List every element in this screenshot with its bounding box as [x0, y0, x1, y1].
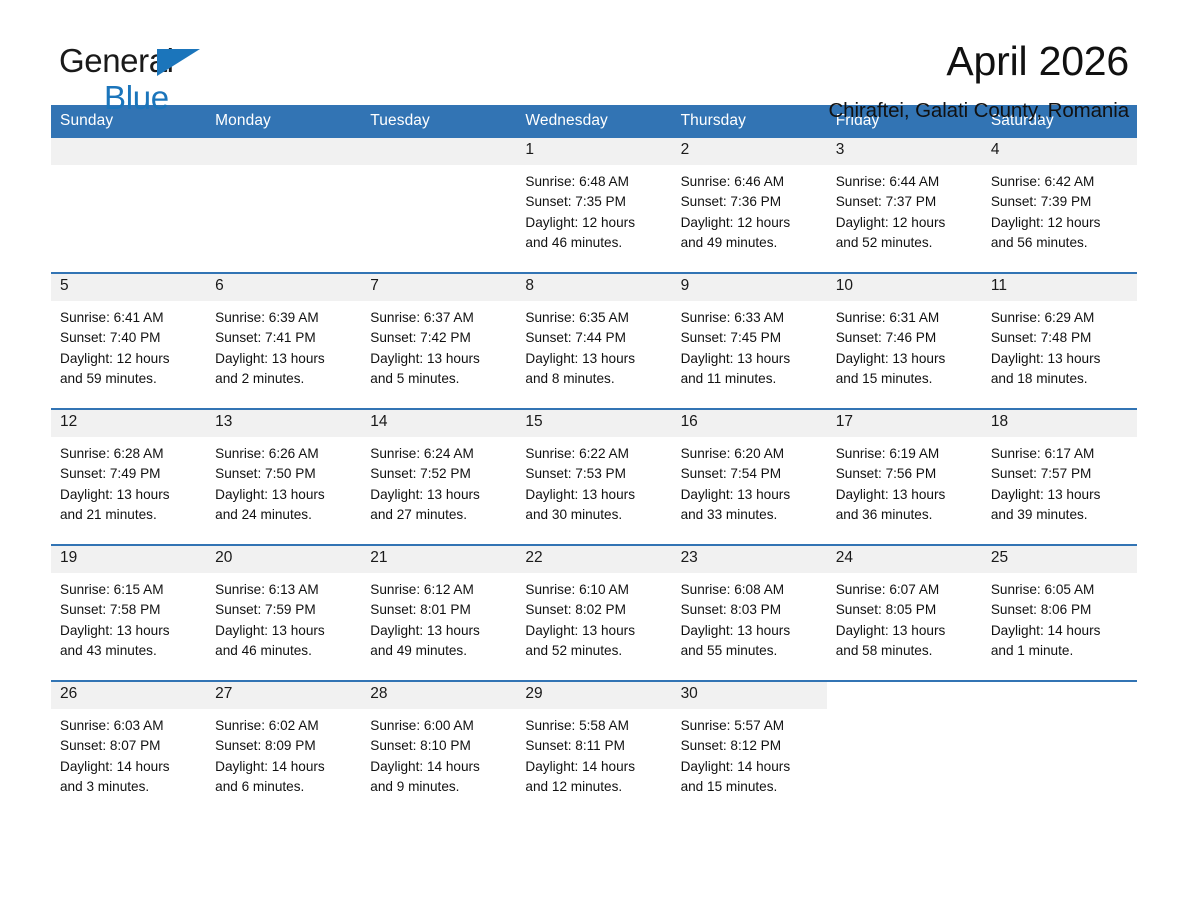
sunrise-text: Sunrise: 6:42 AM: [991, 172, 1131, 192]
daylight-text-line1: Daylight: 13 hours: [215, 349, 355, 369]
day-number: [51, 138, 206, 165]
day-cell-inner: 17Sunrise: 6:19 AMSunset: 7:56 PMDayligh…: [827, 410, 982, 544]
sunrise-text: Sunrise: 6:35 AM: [525, 308, 665, 328]
daylight-text-line2: and 33 minutes.: [681, 505, 821, 525]
day-number: 23: [672, 546, 827, 573]
day-details: Sunrise: 6:42 AMSunset: 7:39 PMDaylight:…: [982, 165, 1137, 253]
sunrise-text: Sunrise: 6:20 AM: [681, 444, 821, 464]
day-cell-inner: 20Sunrise: 6:13 AMSunset: 7:59 PMDayligh…: [206, 546, 361, 680]
daylight-text-line2: and 46 minutes.: [215, 641, 355, 661]
day-details: Sunrise: 6:41 AMSunset: 7:40 PMDaylight:…: [51, 301, 206, 389]
day-cell-inner: 6Sunrise: 6:39 AMSunset: 7:41 PMDaylight…: [206, 274, 361, 408]
day-details: Sunrise: 6:44 AMSunset: 7:37 PMDaylight:…: [827, 165, 982, 253]
daylight-text-line1: Daylight: 14 hours: [60, 757, 200, 777]
day-number: 11: [982, 274, 1137, 301]
calendar-day-cell[interactable]: 5Sunrise: 6:41 AMSunset: 7:40 PMDaylight…: [51, 273, 206, 409]
daylight-text-line1: Daylight: 12 hours: [60, 349, 200, 369]
calendar-day-cell[interactable]: 6Sunrise: 6:39 AMSunset: 7:41 PMDaylight…: [206, 273, 361, 409]
day-number: 14: [361, 410, 516, 437]
day-details: Sunrise: 6:13 AMSunset: 7:59 PMDaylight:…: [206, 573, 361, 661]
calendar-day-cell[interactable]: 8Sunrise: 6:35 AMSunset: 7:44 PMDaylight…: [516, 273, 671, 409]
sunrise-text: Sunrise: 6:37 AM: [370, 308, 510, 328]
day-cell-inner: 22Sunrise: 6:10 AMSunset: 8:02 PMDayligh…: [516, 546, 671, 680]
day-number: 2: [672, 138, 827, 165]
calendar-day-cell[interactable]: 12Sunrise: 6:28 AMSunset: 7:49 PMDayligh…: [51, 409, 206, 545]
sunrise-text: Sunrise: 6:31 AM: [836, 308, 976, 328]
day-number: 9: [672, 274, 827, 301]
daylight-text-line1: Daylight: 13 hours: [836, 485, 976, 505]
day-number: 12: [51, 410, 206, 437]
calendar-cell-empty: [51, 138, 206, 273]
daylight-text-line2: and 56 minutes.: [991, 233, 1131, 253]
day-number: 17: [827, 410, 982, 437]
daylight-text-line1: Daylight: 13 hours: [681, 349, 821, 369]
day-cell-inner: 16Sunrise: 6:20 AMSunset: 7:54 PMDayligh…: [672, 410, 827, 544]
daylight-text-line1: Daylight: 13 hours: [681, 485, 821, 505]
day-cell-inner: 18Sunrise: 6:17 AMSunset: 7:57 PMDayligh…: [982, 410, 1137, 544]
day-details: Sunrise: 6:37 AMSunset: 7:42 PMDaylight:…: [361, 301, 516, 389]
calendar-week-row: 19Sunrise: 6:15 AMSunset: 7:58 PMDayligh…: [51, 545, 1137, 681]
sunrise-text: Sunrise: 6:12 AM: [370, 580, 510, 600]
calendar-page: General Blue April 2026 Chiraftei, Galat…: [0, 0, 1188, 918]
sunrise-text: Sunrise: 6:03 AM: [60, 716, 200, 736]
weekday-header-wednesday: Wednesday: [516, 105, 671, 138]
sunset-text: Sunset: 7:37 PM: [836, 192, 976, 212]
day-details: Sunrise: 6:35 AMSunset: 7:44 PMDaylight:…: [516, 301, 671, 389]
sunset-text: Sunset: 7:45 PM: [681, 328, 821, 348]
day-cell-inner: 26Sunrise: 6:03 AMSunset: 8:07 PMDayligh…: [51, 682, 206, 816]
calendar-week-row: 26Sunrise: 6:03 AMSunset: 8:07 PMDayligh…: [51, 681, 1137, 816]
day-cell-inner: 1Sunrise: 6:48 AMSunset: 7:35 PMDaylight…: [516, 138, 671, 272]
day-cell-inner: 2Sunrise: 6:46 AMSunset: 7:36 PMDaylight…: [672, 138, 827, 272]
daylight-text-line1: Daylight: 14 hours: [215, 757, 355, 777]
day-number: [361, 138, 516, 165]
sunset-text: Sunset: 8:05 PM: [836, 600, 976, 620]
day-details: Sunrise: 6:03 AMSunset: 8:07 PMDaylight:…: [51, 709, 206, 797]
day-number: [206, 138, 361, 165]
daylight-text-line2: and 5 minutes.: [370, 369, 510, 389]
day-details: Sunrise: 5:57 AMSunset: 8:12 PMDaylight:…: [672, 709, 827, 797]
day-details: Sunrise: 6:15 AMSunset: 7:58 PMDaylight:…: [51, 573, 206, 661]
location-subtitle: Chiraftei, Galati County, Romania: [828, 99, 1129, 123]
calendar-day-cell[interactable]: 9Sunrise: 6:33 AMSunset: 7:45 PMDaylight…: [672, 273, 827, 409]
day-number: 29: [516, 682, 671, 709]
calendar-day-cell[interactable]: 4Sunrise: 6:42 AMSunset: 7:39 PMDaylight…: [982, 138, 1137, 273]
daylight-text-line2: and 36 minutes.: [836, 505, 976, 525]
daylight-text-line1: Daylight: 13 hours: [370, 621, 510, 641]
day-number: 6: [206, 274, 361, 301]
daylight-text-line2: and 55 minutes.: [681, 641, 821, 661]
sunrise-text: Sunrise: 5:57 AM: [681, 716, 821, 736]
sunset-text: Sunset: 7:49 PM: [60, 464, 200, 484]
day-cell-inner: 15Sunrise: 6:22 AMSunset: 7:53 PMDayligh…: [516, 410, 671, 544]
sunset-text: Sunset: 8:09 PM: [215, 736, 355, 756]
sunset-text: Sunset: 7:56 PM: [836, 464, 976, 484]
sunrise-text: Sunrise: 5:58 AM: [525, 716, 665, 736]
day-cell-inner: 14Sunrise: 6:24 AMSunset: 7:52 PMDayligh…: [361, 410, 516, 544]
sunrise-text: Sunrise: 6:39 AM: [215, 308, 355, 328]
day-details: Sunrise: 6:02 AMSunset: 8:09 PMDaylight:…: [206, 709, 361, 797]
calendar-day-cell[interactable]: 29Sunrise: 5:58 AMSunset: 8:11 PMDayligh…: [516, 681, 671, 816]
day-number: 15: [516, 410, 671, 437]
day-details: Sunrise: 6:48 AMSunset: 7:35 PMDaylight:…: [516, 165, 671, 253]
day-number: 3: [827, 138, 982, 165]
daylight-text-line2: and 21 minutes.: [60, 505, 200, 525]
daylight-text-line2: and 1 minute.: [991, 641, 1131, 661]
logo-text-blue: Blue: [59, 81, 359, 114]
day-cell-inner: 10Sunrise: 6:31 AMSunset: 7:46 PMDayligh…: [827, 274, 982, 408]
sunrise-text: Sunrise: 6:28 AM: [60, 444, 200, 464]
day-number: 20: [206, 546, 361, 573]
calendar-week-row: 12Sunrise: 6:28 AMSunset: 7:49 PMDayligh…: [51, 409, 1137, 545]
day-cell-inner: 9Sunrise: 6:33 AMSunset: 7:45 PMDaylight…: [672, 274, 827, 408]
day-cell-inner: 3Sunrise: 6:44 AMSunset: 7:37 PMDaylight…: [827, 138, 982, 272]
sunrise-text: Sunrise: 6:33 AM: [681, 308, 821, 328]
sunset-text: Sunset: 7:57 PM: [991, 464, 1131, 484]
day-cell-inner: 7Sunrise: 6:37 AMSunset: 7:42 PMDaylight…: [361, 274, 516, 408]
sunrise-text: Sunrise: 6:26 AM: [215, 444, 355, 464]
day-cell-inner: [827, 682, 982, 816]
day-number: 7: [361, 274, 516, 301]
page-title: April 2026: [828, 40, 1129, 83]
page-header: General Blue April 2026 Chiraftei, Galat…: [51, 0, 1137, 105]
sunrise-text: Sunrise: 6:29 AM: [991, 308, 1131, 328]
day-cell-inner: 24Sunrise: 6:07 AMSunset: 8:05 PMDayligh…: [827, 546, 982, 680]
sunset-text: Sunset: 7:35 PM: [525, 192, 665, 212]
sunset-text: Sunset: 7:41 PM: [215, 328, 355, 348]
calendar-day-cell[interactable]: 18Sunrise: 6:17 AMSunset: 7:57 PMDayligh…: [982, 409, 1137, 545]
sunrise-text: Sunrise: 6:41 AM: [60, 308, 200, 328]
daylight-text-line2: and 12 minutes.: [525, 777, 665, 797]
weekday-header-thursday: Thursday: [672, 105, 827, 138]
sunset-text: Sunset: 8:03 PM: [681, 600, 821, 620]
sunset-text: Sunset: 7:46 PM: [836, 328, 976, 348]
sunrise-text: Sunrise: 6:00 AM: [370, 716, 510, 736]
day-cell-inner: 27Sunrise: 6:02 AMSunset: 8:09 PMDayligh…: [206, 682, 361, 816]
day-cell-inner: 29Sunrise: 5:58 AMSunset: 8:11 PMDayligh…: [516, 682, 671, 816]
title-block: April 2026 Chiraftei, Galati County, Rom…: [828, 40, 1129, 123]
sunset-text: Sunset: 7:53 PM: [525, 464, 665, 484]
day-details: Sunrise: 6:26 AMSunset: 7:50 PMDaylight:…: [206, 437, 361, 525]
calendar-day-cell[interactable]: 15Sunrise: 6:22 AMSunset: 7:53 PMDayligh…: [516, 409, 671, 545]
calendar-day-cell[interactable]: 7Sunrise: 6:37 AMSunset: 7:42 PMDaylight…: [361, 273, 516, 409]
calendar-day-cell[interactable]: 16Sunrise: 6:20 AMSunset: 7:54 PMDayligh…: [672, 409, 827, 545]
day-details: Sunrise: 6:08 AMSunset: 8:03 PMDaylight:…: [672, 573, 827, 661]
sunset-text: Sunset: 7:50 PM: [215, 464, 355, 484]
day-cell-inner: 11Sunrise: 6:29 AMSunset: 7:48 PMDayligh…: [982, 274, 1137, 408]
day-number: 21: [361, 546, 516, 573]
day-number: 8: [516, 274, 671, 301]
sunrise-text: Sunrise: 6:02 AM: [215, 716, 355, 736]
day-cell-inner: 4Sunrise: 6:42 AMSunset: 7:39 PMDaylight…: [982, 138, 1137, 272]
daylight-text-line1: Daylight: 12 hours: [525, 213, 665, 233]
daylight-text-line1: Daylight: 13 hours: [215, 485, 355, 505]
daylight-text-line1: Daylight: 12 hours: [681, 213, 821, 233]
sunset-text: Sunset: 8:10 PM: [370, 736, 510, 756]
daylight-text-line2: and 52 minutes.: [525, 641, 665, 661]
calendar-day-cell[interactable]: 2Sunrise: 6:46 AMSunset: 7:36 PMDaylight…: [672, 138, 827, 273]
daylight-text-line2: and 27 minutes.: [370, 505, 510, 525]
calendar-day-cell[interactable]: 10Sunrise: 6:31 AMSunset: 7:46 PMDayligh…: [827, 273, 982, 409]
day-cell-inner: 12Sunrise: 6:28 AMSunset: 7:49 PMDayligh…: [51, 410, 206, 544]
sunrise-text: Sunrise: 6:22 AM: [525, 444, 665, 464]
calendar-day-cell[interactable]: 3Sunrise: 6:44 AMSunset: 7:37 PMDaylight…: [827, 138, 982, 273]
general-blue-logo[interactable]: General Blue: [59, 44, 359, 116]
daylight-text-line2: and 58 minutes.: [836, 641, 976, 661]
daylight-text-line2: and 59 minutes.: [60, 369, 200, 389]
day-number: 28: [361, 682, 516, 709]
day-cell-inner: 8Sunrise: 6:35 AMSunset: 7:44 PMDaylight…: [516, 274, 671, 408]
daylight-text-line1: Daylight: 13 hours: [681, 621, 821, 641]
daylight-text-line1: Daylight: 13 hours: [60, 621, 200, 641]
daylight-text-line1: Daylight: 13 hours: [991, 485, 1131, 505]
day-number: 25: [982, 546, 1137, 573]
sunrise-text: Sunrise: 6:48 AM: [525, 172, 665, 192]
calendar-day-cell[interactable]: 21Sunrise: 6:12 AMSunset: 8:01 PMDayligh…: [361, 545, 516, 681]
sunset-text: Sunset: 8:07 PM: [60, 736, 200, 756]
sunset-text: Sunset: 7:42 PM: [370, 328, 510, 348]
day-details: Sunrise: 6:33 AMSunset: 7:45 PMDaylight:…: [672, 301, 827, 389]
weekday-header-tuesday: Tuesday: [361, 105, 516, 138]
sunset-text: Sunset: 7:36 PM: [681, 192, 821, 212]
sunrise-text: Sunrise: 6:15 AM: [60, 580, 200, 600]
calendar-day-cell[interactable]: 14Sunrise: 6:24 AMSunset: 7:52 PMDayligh…: [361, 409, 516, 545]
calendar-day-cell[interactable]: 25Sunrise: 6:05 AMSunset: 8:06 PMDayligh…: [982, 545, 1137, 681]
day-number: 18: [982, 410, 1137, 437]
daylight-text-line1: Daylight: 13 hours: [991, 349, 1131, 369]
calendar-day-cell[interactable]: 28Sunrise: 6:00 AMSunset: 8:10 PMDayligh…: [361, 681, 516, 816]
sunset-text: Sunset: 8:12 PM: [681, 736, 821, 756]
daylight-text-line1: Daylight: 13 hours: [370, 485, 510, 505]
day-cell-inner: 19Sunrise: 6:15 AMSunset: 7:58 PMDayligh…: [51, 546, 206, 680]
day-cell-inner: 5Sunrise: 6:41 AMSunset: 7:40 PMDaylight…: [51, 274, 206, 408]
daylight-text-line2: and 2 minutes.: [215, 369, 355, 389]
daylight-text-line1: Daylight: 12 hours: [991, 213, 1131, 233]
logo-top-row: General: [59, 44, 359, 80]
sunrise-text: Sunrise: 6:46 AM: [681, 172, 821, 192]
sunset-text: Sunset: 7:40 PM: [60, 328, 200, 348]
daylight-text-line2: and 6 minutes.: [215, 777, 355, 797]
daylight-text-line2: and 30 minutes.: [525, 505, 665, 525]
calendar-cell-empty: [361, 138, 516, 273]
day-number: 10: [827, 274, 982, 301]
calendar-day-cell[interactable]: 30Sunrise: 5:57 AMSunset: 8:12 PMDayligh…: [672, 681, 827, 816]
daylight-text-line1: Daylight: 14 hours: [525, 757, 665, 777]
day-cell-inner: [361, 138, 516, 272]
day-cell-inner: 23Sunrise: 6:08 AMSunset: 8:03 PMDayligh…: [672, 546, 827, 680]
daylight-text-line1: Daylight: 13 hours: [836, 621, 976, 641]
day-details: Sunrise: 6:22 AMSunset: 7:53 PMDaylight:…: [516, 437, 671, 525]
daylight-text-line2: and 46 minutes.: [525, 233, 665, 253]
day-details: Sunrise: 6:20 AMSunset: 7:54 PMDaylight:…: [672, 437, 827, 525]
day-details: Sunrise: 6:07 AMSunset: 8:05 PMDaylight:…: [827, 573, 982, 661]
sunset-text: Sunset: 7:52 PM: [370, 464, 510, 484]
sunrise-text: Sunrise: 6:05 AM: [991, 580, 1131, 600]
day-cell-inner: 21Sunrise: 6:12 AMSunset: 8:01 PMDayligh…: [361, 546, 516, 680]
day-number: 16: [672, 410, 827, 437]
daylight-text-line1: Daylight: 13 hours: [215, 621, 355, 641]
daylight-text-line2: and 43 minutes.: [60, 641, 200, 661]
sunset-text: Sunset: 7:59 PM: [215, 600, 355, 620]
day-details: Sunrise: 6:29 AMSunset: 7:48 PMDaylight:…: [982, 301, 1137, 389]
sunset-text: Sunset: 8:11 PM: [525, 736, 665, 756]
daylight-text-line2: and 11 minutes.: [681, 369, 821, 389]
day-details: Sunrise: 6:10 AMSunset: 8:02 PMDaylight:…: [516, 573, 671, 661]
day-cell-inner: 25Sunrise: 6:05 AMSunset: 8:06 PMDayligh…: [982, 546, 1137, 680]
calendar-day-cell[interactable]: 13Sunrise: 6:26 AMSunset: 7:50 PMDayligh…: [206, 409, 361, 545]
daylight-text-line2: and 9 minutes.: [370, 777, 510, 797]
day-details: Sunrise: 6:28 AMSunset: 7:49 PMDaylight:…: [51, 437, 206, 525]
day-details: Sunrise: 6:00 AMSunset: 8:10 PMDaylight:…: [361, 709, 516, 797]
daylight-text-line2: and 15 minutes.: [681, 777, 821, 797]
day-details: Sunrise: 6:17 AMSunset: 7:57 PMDaylight:…: [982, 437, 1137, 525]
calendar-week-row: 1Sunrise: 6:48 AMSunset: 7:35 PMDaylight…: [51, 138, 1137, 273]
sunset-text: Sunset: 7:54 PM: [681, 464, 821, 484]
daylight-text-line2: and 8 minutes.: [525, 369, 665, 389]
sunset-text: Sunset: 7:48 PM: [991, 328, 1131, 348]
calendar-day-cell[interactable]: 1Sunrise: 6:48 AMSunset: 7:35 PMDaylight…: [516, 138, 671, 273]
sunrise-text: Sunrise: 6:17 AM: [991, 444, 1131, 464]
calendar-day-cell[interactable]: 19Sunrise: 6:15 AMSunset: 7:58 PMDayligh…: [51, 545, 206, 681]
calendar-day-cell[interactable]: 22Sunrise: 6:10 AMSunset: 8:02 PMDayligh…: [516, 545, 671, 681]
day-number: 22: [516, 546, 671, 573]
daylight-text-line1: Daylight: 13 hours: [60, 485, 200, 505]
daylight-text-line1: Daylight: 14 hours: [991, 621, 1131, 641]
calendar-table: Sunday Monday Tuesday Wednesday Thursday…: [51, 105, 1137, 816]
calendar-day-cell[interactable]: 26Sunrise: 6:03 AMSunset: 8:07 PMDayligh…: [51, 681, 206, 816]
day-details: Sunrise: 6:05 AMSunset: 8:06 PMDaylight:…: [982, 573, 1137, 661]
daylight-text-line2: and 39 minutes.: [991, 505, 1131, 525]
daylight-text-line2: and 52 minutes.: [836, 233, 976, 253]
daylight-text-line2: and 18 minutes.: [991, 369, 1131, 389]
day-cell-inner: [982, 682, 1137, 816]
calendar-day-cell[interactable]: 17Sunrise: 6:19 AMSunset: 7:56 PMDayligh…: [827, 409, 982, 545]
daylight-text-line2: and 49 minutes.: [681, 233, 821, 253]
day-cell-inner: 28Sunrise: 6:00 AMSunset: 8:10 PMDayligh…: [361, 682, 516, 816]
day-details: Sunrise: 6:12 AMSunset: 8:01 PMDaylight:…: [361, 573, 516, 661]
sunset-text: Sunset: 7:39 PM: [991, 192, 1131, 212]
calendar-week-row: 5Sunrise: 6:41 AMSunset: 7:40 PMDaylight…: [51, 273, 1137, 409]
daylight-text-line1: Daylight: 13 hours: [525, 621, 665, 641]
sunset-text: Sunset: 8:06 PM: [991, 600, 1131, 620]
triangle-logo-icon: [157, 49, 200, 76]
sunrise-text: Sunrise: 6:19 AM: [836, 444, 976, 464]
daylight-text-line1: Daylight: 13 hours: [370, 349, 510, 369]
calendar-day-cell[interactable]: 11Sunrise: 6:29 AMSunset: 7:48 PMDayligh…: [982, 273, 1137, 409]
sunrise-text: Sunrise: 6:13 AM: [215, 580, 355, 600]
calendar-cell-empty: [206, 138, 361, 273]
day-details: Sunrise: 6:46 AMSunset: 7:36 PMDaylight:…: [672, 165, 827, 253]
sunset-text: Sunset: 7:58 PM: [60, 600, 200, 620]
day-number: 4: [982, 138, 1137, 165]
day-cell-inner: 13Sunrise: 6:26 AMSunset: 7:50 PMDayligh…: [206, 410, 361, 544]
daylight-text-line1: Daylight: 13 hours: [836, 349, 976, 369]
daylight-text-line2: and 24 minutes.: [215, 505, 355, 525]
day-number: 19: [51, 546, 206, 573]
day-details: Sunrise: 6:19 AMSunset: 7:56 PMDaylight:…: [827, 437, 982, 525]
day-details: Sunrise: 6:31 AMSunset: 7:46 PMDaylight:…: [827, 301, 982, 389]
sunset-text: Sunset: 8:02 PM: [525, 600, 665, 620]
calendar-day-cell[interactable]: 27Sunrise: 6:02 AMSunset: 8:09 PMDayligh…: [206, 681, 361, 816]
day-number: 5: [51, 274, 206, 301]
sunrise-text: Sunrise: 6:10 AM: [525, 580, 665, 600]
day-number: 30: [672, 682, 827, 709]
sunrise-text: Sunrise: 6:24 AM: [370, 444, 510, 464]
calendar-day-cell[interactable]: 20Sunrise: 6:13 AMSunset: 7:59 PMDayligh…: [206, 545, 361, 681]
calendar-cell-empty: [827, 681, 982, 816]
day-cell-inner: [51, 138, 206, 272]
daylight-text-line1: Daylight: 14 hours: [681, 757, 821, 777]
day-number: 13: [206, 410, 361, 437]
day-number: 24: [827, 546, 982, 573]
sunrise-text: Sunrise: 6:07 AM: [836, 580, 976, 600]
daylight-text-line2: and 3 minutes.: [60, 777, 200, 797]
day-details: Sunrise: 5:58 AMSunset: 8:11 PMDaylight:…: [516, 709, 671, 797]
day-number: 27: [206, 682, 361, 709]
calendar-body: 1Sunrise: 6:48 AMSunset: 7:35 PMDaylight…: [51, 138, 1137, 816]
daylight-text-line1: Daylight: 13 hours: [525, 485, 665, 505]
sunrise-text: Sunrise: 6:08 AM: [681, 580, 821, 600]
calendar-day-cell[interactable]: 23Sunrise: 6:08 AMSunset: 8:03 PMDayligh…: [672, 545, 827, 681]
day-cell-inner: [206, 138, 361, 272]
daylight-text-line1: Daylight: 14 hours: [370, 757, 510, 777]
daylight-text-line2: and 15 minutes.: [836, 369, 976, 389]
day-number: 1: [516, 138, 671, 165]
sunset-text: Sunset: 8:01 PM: [370, 600, 510, 620]
daylight-text-line2: and 49 minutes.: [370, 641, 510, 661]
calendar-cell-empty: [982, 681, 1137, 816]
calendar-day-cell[interactable]: 24Sunrise: 6:07 AMSunset: 8:05 PMDayligh…: [827, 545, 982, 681]
day-number: 26: [51, 682, 206, 709]
day-details: Sunrise: 6:24 AMSunset: 7:52 PMDaylight:…: [361, 437, 516, 525]
day-cell-inner: 30Sunrise: 5:57 AMSunset: 8:12 PMDayligh…: [672, 682, 827, 816]
day-details: Sunrise: 6:39 AMSunset: 7:41 PMDaylight:…: [206, 301, 361, 389]
daylight-text-line1: Daylight: 13 hours: [525, 349, 665, 369]
sunset-text: Sunset: 7:44 PM: [525, 328, 665, 348]
sunrise-text: Sunrise: 6:44 AM: [836, 172, 976, 192]
daylight-text-line1: Daylight: 12 hours: [836, 213, 976, 233]
